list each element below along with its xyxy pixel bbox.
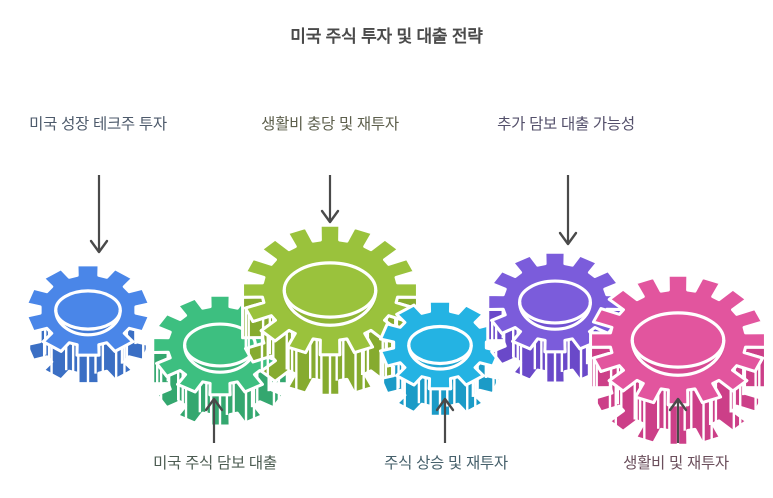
gear-label-stock-collateral-loan: 미국 주식 담보 대출 — [112, 453, 318, 475]
arrow-down-additional-loan — [560, 175, 576, 244]
gear-living-expense-reinvest — [243, 225, 418, 395]
gear-diagram-svg — [0, 0, 773, 498]
gear-stock-rise-reinvest-face — [381, 301, 500, 388]
arrow-down-growth-tech — [91, 175, 107, 252]
gear-label-living-expense-reinvest: 생활비 충당 및 재투자 — [232, 114, 428, 136]
arrow-down-living-expense — [322, 175, 338, 222]
gear-growth-tech — [27, 265, 150, 385]
arrow-up-stock-rise — [437, 399, 453, 443]
gear-group — [27, 225, 766, 445]
gear-label-living-expense-reinvest-2: 생활비 및 재투자 — [578, 453, 773, 475]
gear-label-additional-collateral-loan: 추가 담보 대출 가능성 — [468, 114, 664, 136]
gear-living-expense-reinvest-2-face — [591, 275, 766, 404]
gear-growth-tech-face — [27, 265, 150, 355]
gear-label-growth-tech: 미국 성장 테크주 투자 — [0, 114, 198, 136]
infographic-canvas: 미국 주식 투자 및 대출 전략 미국 성장 테크주 투자 생활비 충당 및 재… — [0, 0, 773, 498]
gear-label-stock-rise-reinvest: 주식 상승 및 재투자 — [344, 453, 548, 475]
